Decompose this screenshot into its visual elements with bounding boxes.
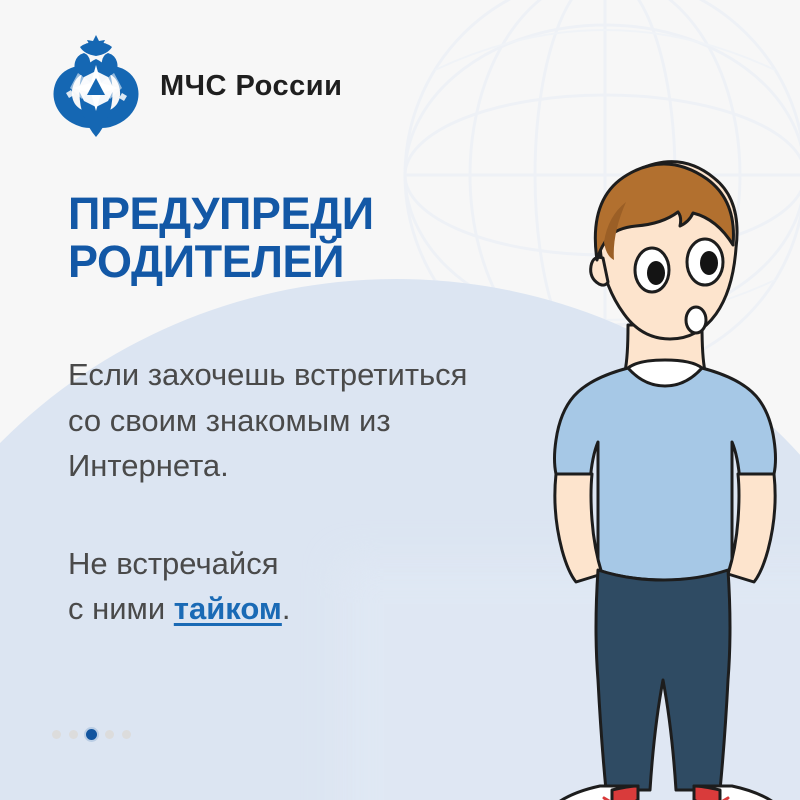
brand-name-label: МЧС России: [160, 70, 342, 103]
paragraph-1-line-1: Если захочешь встретиться: [68, 357, 467, 392]
poster-canvas: МЧС России ПРЕДУПРЕДИ РОДИТЕЛЕЙ Если зах…: [0, 0, 800, 800]
paragraph-2-suffix: .: [282, 591, 291, 626]
pagination-dot-5[interactable]: [122, 730, 131, 739]
paragraph-2-prefix: с ними: [68, 591, 174, 626]
page-title: ПРЕДУПРЕДИ РОДИТЕЛЕЙ: [68, 190, 488, 286]
brand-logo: МЧС России: [50, 33, 342, 139]
emercom-eagle-emblem-icon: [50, 33, 142, 139]
headline-line-1: ПРЕДУПРЕДИ: [68, 188, 374, 239]
paragraph-2-line-1: Не встречайся: [68, 546, 279, 581]
paragraph-1-line-2: со своим знакомым из: [68, 403, 391, 438]
headline-line-2: РОДИТЕЛЕЙ: [68, 238, 488, 286]
pagination-dot-2[interactable]: [69, 730, 78, 739]
pagination-dot-3[interactable]: [86, 729, 97, 740]
highlighted-word: тайком: [174, 591, 282, 626]
pagination-dot-4[interactable]: [105, 730, 114, 739]
pagination-dot-1[interactable]: [52, 730, 61, 739]
cartoon-boy-illustration: [500, 150, 800, 800]
paragraph-1-line-3: Интернета.: [68, 448, 229, 483]
pagination-dots[interactable]: [52, 729, 131, 740]
